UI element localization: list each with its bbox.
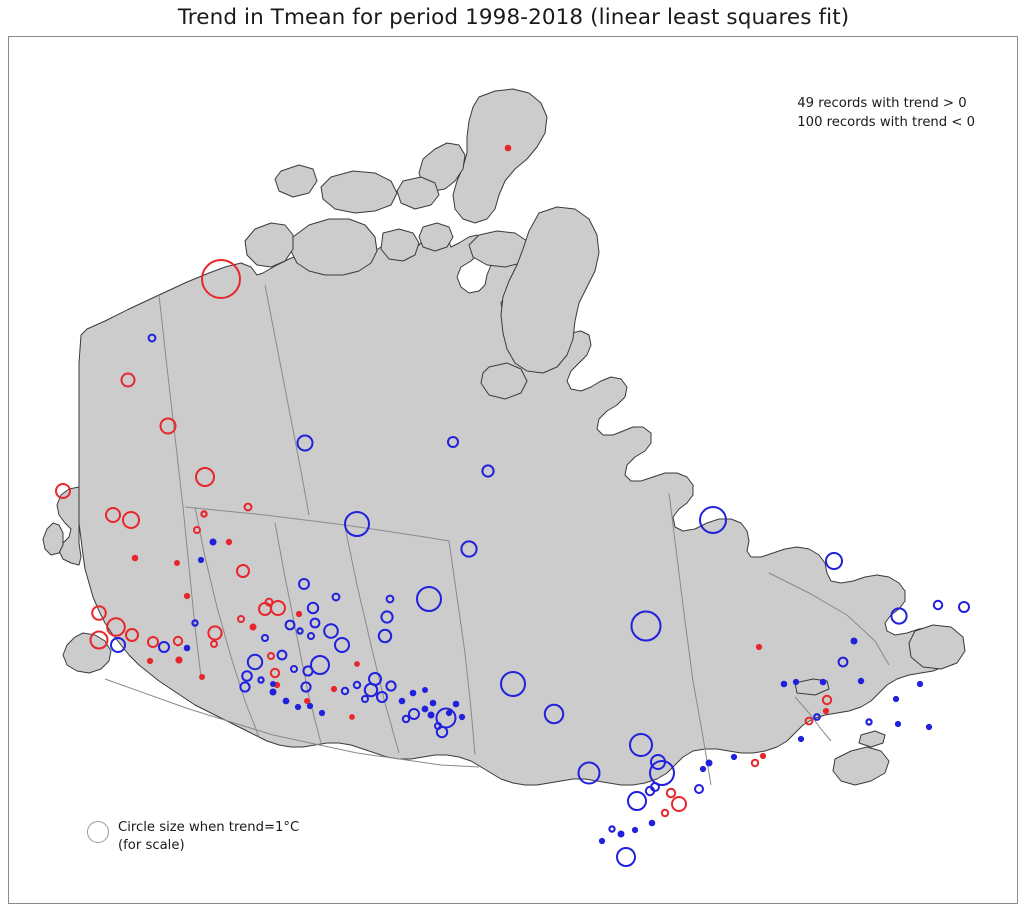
trend-marker [761,754,765,758]
trend-marker [400,699,404,703]
trend-marker [271,690,276,695]
canada-map-svg [9,37,1018,904]
trend-marker [148,659,152,663]
trend-marker [896,722,900,726]
southampton-island [481,363,527,399]
trend-marker [454,702,458,706]
trend-marker [859,679,863,683]
size-legend-line2: (for scale) [118,837,299,855]
prince-of-wales-island [381,229,419,261]
trend-marker [821,680,825,684]
trend-marker [707,761,712,766]
trend-marker [175,561,179,565]
trend-marker [701,767,705,771]
trend-marker [794,680,798,684]
trend-marker [133,556,137,560]
trend-marker [411,691,415,695]
trend-marker [177,658,182,663]
trend-marker [431,701,435,705]
trend-marker [732,755,736,759]
trend-marker [305,699,309,703]
trend-marker [350,715,354,719]
trend-marker [284,699,289,704]
newfoundland [909,625,965,669]
positive-records-text: 49 records with trend > 0 [797,95,975,114]
trend-marker [799,737,803,741]
trend-marker [429,713,434,718]
trend-marker [297,612,301,616]
trend-marker [782,682,786,686]
map-plot-area: 49 records with trend > 0 100 records wi… [8,36,1018,904]
negative-records-text: 100 records with trend < 0 [797,114,975,133]
trend-marker [757,645,761,649]
trend-marker [506,146,510,150]
figure-canvas: Trend in Tmean for period 1998-2018 (lin… [0,0,1027,914]
trend-marker [200,675,204,679]
trend-marker [185,646,189,650]
trend-marker [199,558,203,562]
trend-marker [308,704,312,708]
trend-marker [460,715,464,719]
trend-marker [600,839,604,843]
trend-marker [447,711,451,715]
trend-marker [251,625,256,630]
trend-marker [824,709,828,713]
trend-marker [619,832,624,837]
size-legend-line1: Circle size when trend=1°C [118,819,299,837]
trend-marker [227,540,231,544]
trend-marker [271,682,275,686]
chart-title: Trend in Tmean for period 1998-2018 (lin… [0,5,1027,30]
records-annotation: 49 records with trend > 0 100 records wi… [797,95,975,132]
trend-marker [650,821,654,825]
trend-marker [423,707,428,712]
size-legend-text: Circle size when trend=1°C (for scale) [118,819,299,855]
open-circle-icon [87,821,109,843]
trend-marker [320,711,324,715]
trend-marker [332,687,336,691]
trend-marker [185,594,189,598]
trend-marker [355,662,359,666]
size-legend: Circle size when trend=1°C (for scale) [87,819,299,855]
trend-marker [894,697,898,701]
trend-marker [211,540,216,545]
trend-marker [296,705,300,709]
trend-marker [927,725,931,729]
trend-marker [918,682,922,686]
trend-marker [423,688,427,692]
trend-marker [852,639,857,644]
trend-marker [633,828,637,832]
